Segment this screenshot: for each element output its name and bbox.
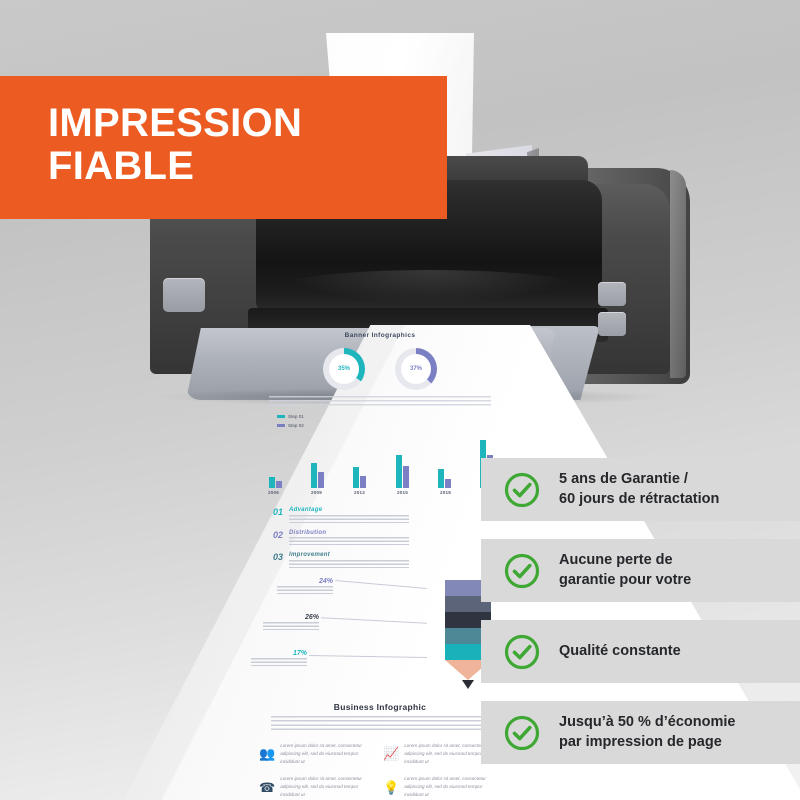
feature-card-line-1: Qualité constante	[559, 642, 681, 661]
step-item-2: 02 Distribution	[273, 530, 495, 546]
bar-series-1	[396, 455, 402, 489]
percent-callout-2: 26%	[263, 614, 319, 632]
x-tick-label: 2015	[397, 490, 408, 495]
headline-line-2: FIABLE	[48, 145, 447, 188]
x-tick-label: 2006	[268, 490, 279, 495]
icon-feature-1: 👥 Lorem ipsum dolor sit amet, consectetu…	[259, 742, 377, 765]
percent-value-1: 24%	[277, 578, 333, 585]
donut-chart-1: 35%	[323, 348, 365, 390]
printer-button-top[interactable]	[598, 282, 626, 306]
donut-chart-row: 35% 37%	[255, 348, 505, 390]
step-item-3: 03 Improvement	[273, 552, 495, 568]
intro-paragraph-placeholder	[269, 396, 491, 407]
feature-card-label: Aucune perte degarantie pour votre	[559, 551, 691, 589]
legend-item-1: Step 01	[277, 413, 505, 422]
percent-caption-1	[277, 586, 333, 596]
feature-card[interactable]: Jusqu’à 50 % d’économiepar impression de…	[481, 701, 800, 764]
percent-caption-2	[263, 622, 319, 632]
printer-power-button[interactable]	[163, 278, 205, 312]
step-title-3: Improvement	[289, 552, 409, 558]
icon-feature-text-1: Lorem ipsum dolor sit amet, consectetur …	[280, 742, 377, 765]
feature-card-label: Jusqu’à 50 % d’économiepar impression de…	[559, 713, 735, 751]
bar-group	[269, 477, 282, 488]
feature-card[interactable]: 5 ans de Garantie /60 jours de rétractat…	[481, 458, 800, 521]
feature-card-list: 5 ans de Garantie /60 jours de rétractat…	[481, 458, 800, 782]
pencil-tip	[462, 680, 474, 689]
step-body-2	[289, 537, 409, 545]
bar-group	[396, 455, 409, 489]
people-group-icon: 👥	[259, 747, 275, 760]
bar-chart-growth-icon: 📈	[383, 747, 399, 760]
feature-card[interactable]: Qualité constante	[481, 620, 800, 683]
step-title-1: Advantage	[289, 507, 409, 513]
bar-group	[311, 463, 324, 489]
bar-chart	[269, 432, 493, 488]
bar-group	[438, 469, 451, 488]
feature-card-line-1: 5 ans de Garantie /	[559, 470, 719, 489]
business-infographic-body	[271, 716, 489, 730]
numbered-steps-list: 01 Advantage 02 Distribution 03 Improvem…	[273, 507, 495, 568]
bar-series-2	[276, 481, 282, 489]
check-circle-icon	[503, 714, 541, 752]
feature-card-line-2: par impression de page	[559, 733, 735, 752]
x-tick-label: 2018	[440, 490, 451, 495]
feature-card-label: 5 ans de Garantie /60 jours de rétractat…	[559, 470, 719, 508]
step-number-1: 01	[273, 507, 283, 517]
step-title-2: Distribution	[289, 530, 409, 536]
chart-legend: Step 01 Step 02	[277, 413, 505, 430]
x-tick-label: 2012	[354, 490, 365, 495]
printer-cover-gloss	[280, 270, 580, 304]
printer-right-highlight	[670, 170, 686, 378]
icon-feature-3: ☎ Lorem ipsum dolor sit amet, consectetu…	[259, 775, 377, 798]
check-circle-icon	[503, 471, 541, 509]
feature-card-line-2: 60 jours de rétractation	[559, 490, 719, 509]
legend-swatch-1	[277, 415, 285, 418]
leader-line-3	[309, 655, 427, 658]
bar-series-2	[403, 466, 409, 488]
pencil-chart: 24% 26% 17%	[255, 576, 505, 696]
feature-card-label: Qualité constante	[559, 642, 681, 661]
donut-chart-2: 37%	[395, 348, 437, 390]
step-number-3: 03	[273, 552, 283, 562]
bar-series-1	[438, 469, 444, 488]
lightbulb-idea-icon: 💡	[383, 781, 399, 794]
percent-callout-1: 24%	[277, 578, 333, 596]
feature-card[interactable]: Aucune perte degarantie pour votre	[481, 539, 800, 602]
bar-group	[353, 467, 366, 488]
donut-value-1: 35%	[338, 366, 350, 372]
icon-feature-grid: 👥 Lorem ipsum dolor sit amet, consectetu…	[259, 742, 501, 799]
feature-card-line-1: Aucune perte de	[559, 551, 691, 570]
bar-series-1	[353, 467, 359, 488]
bar-series-2	[318, 472, 324, 489]
bar-series-1	[311, 463, 317, 489]
business-infographic-title: Business Infographic	[255, 702, 505, 712]
headline-line-1: IMPRESSION	[48, 101, 302, 145]
headline-banner: IMPRESSION FIABLE	[0, 76, 447, 219]
page-title: IMPRESSION FIABLE	[0, 76, 447, 188]
check-circle-icon	[503, 552, 541, 590]
bar-chart-x-axis: 200620092012201520182021	[268, 490, 494, 495]
bar-series-2	[360, 476, 366, 488]
leader-line-1	[335, 580, 427, 589]
step-body-1	[289, 515, 409, 523]
feature-card-line-2: garantie pour votre	[559, 571, 691, 590]
step-number-2: 02	[273, 530, 283, 540]
step-item-1: 01 Advantage	[273, 507, 495, 523]
phone-clock-icon: ☎	[259, 781, 275, 794]
promo-banner-image: Banner Infographics 35% 37% Step 01 Step…	[0, 0, 800, 800]
legend-label-2: Step 02	[288, 423, 304, 428]
percent-value-2: 26%	[263, 614, 319, 621]
percent-caption-3	[251, 658, 307, 668]
percent-callout-3: 17%	[251, 650, 307, 668]
icon-feature-text-3: Lorem ipsum dolor sit amet, consectetur …	[280, 775, 377, 798]
percent-value-3: 17%	[251, 650, 307, 657]
leader-line-2	[321, 617, 427, 624]
legend-label-1: Step 01	[288, 414, 304, 419]
bar-series-1	[269, 477, 275, 488]
step-body-3	[289, 560, 409, 568]
feature-card-line-1: Jusqu’à 50 % d’économie	[559, 713, 735, 732]
infographic-content: Banner Infographics 35% 37% Step 01 Step…	[255, 330, 505, 800]
legend-swatch-2	[277, 424, 285, 427]
legend-item-2: Step 02	[277, 422, 505, 431]
check-circle-icon	[503, 633, 541, 671]
bar-series-2	[445, 479, 451, 488]
printer-button-bottom[interactable]	[598, 312, 626, 336]
donut-value-2: 37%	[410, 366, 422, 372]
x-tick-label: 2009	[311, 490, 322, 495]
infographic-title: Banner Infographics	[255, 332, 505, 339]
